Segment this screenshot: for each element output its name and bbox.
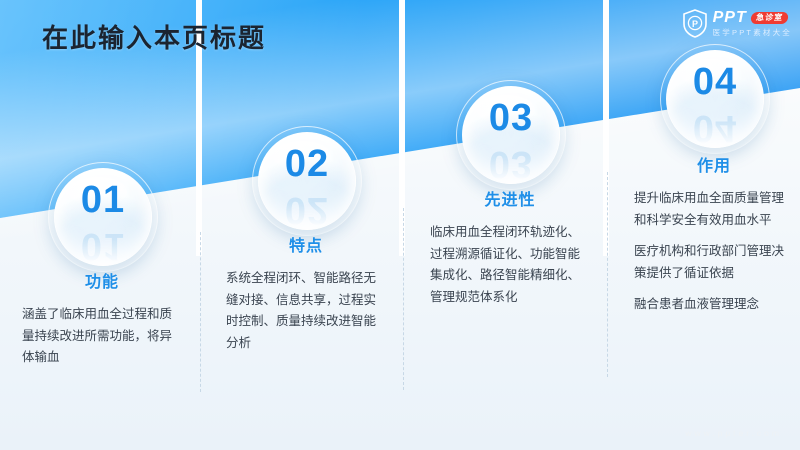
column-divider-1: [200, 232, 201, 392]
step-bubble-01[interactable]: 01 01: [48, 162, 158, 272]
logo-badge: 急诊室: [750, 12, 789, 24]
paragraph: 提升临床用血全面质量管理和科学安全有效用血水平: [634, 188, 794, 231]
step-number-reflection-03: 03: [463, 145, 559, 183]
column-heading-1: 功能: [22, 268, 182, 292]
step-number-01: 01: [55, 181, 151, 219]
logo-subtitle: 医学PPT素材大全: [713, 29, 792, 37]
logo-text-block: PPT 急诊室 医学PPT素材大全: [713, 10, 792, 37]
logo-brand-text: PPT: [713, 10, 747, 26]
column-body-2: 系统全程闭环、智能路径无缝对接、信息共享，过程实时控制、质量持续改进智能分析: [226, 268, 386, 354]
column-body-1: 涵盖了临床用血全过程和质量持续改进所需功能，将异体输血: [22, 304, 182, 369]
step-bubble-04[interactable]: 04 04: [660, 44, 770, 154]
band-separator-3: [603, 0, 609, 256]
column-heading-2: 特点: [226, 232, 386, 256]
band-separator-2: [399, 0, 405, 256]
paragraph: 临床用血全程闭环轨迹化、过程溯源循证化、功能智能集成化、路径智能精细化、管理规范…: [430, 222, 590, 308]
content-column-2: 特点 系统全程闭环、智能路径无缝对接、信息共享，过程实时控制、质量持续改进智能分…: [226, 232, 386, 354]
paragraph: 医疗机构和行政部门管理决策提供了循证依据: [634, 241, 794, 284]
paragraph: 系统全程闭环、智能路径无缝对接、信息共享，过程实时控制、质量持续改进智能分析: [226, 268, 386, 354]
brand-logo[interactable]: P PPT 急诊室 医学PPT素材大全: [682, 6, 792, 40]
step-number-04: 04: [667, 63, 763, 101]
column-divider-2: [403, 208, 404, 390]
page-title: 在此输入本页标题: [42, 18, 266, 55]
paragraph: 融合患者血液管理理念: [634, 294, 794, 316]
step-bubble-02[interactable]: 02 02: [252, 126, 362, 236]
step-bubble-03[interactable]: 03 03: [456, 80, 566, 190]
column-body-3: 临床用血全程闭环轨迹化、过程溯源循证化、功能智能集成化、路径智能精细化、管理规范…: [430, 222, 590, 308]
content-column-4: 作用 提升临床用血全面质量管理和科学安全有效用血水平医疗机构和行政部门管理决策提…: [634, 152, 794, 316]
column-divider-3: [607, 172, 608, 377]
paragraph: 涵盖了临床用血全过程和质量持续改进所需功能，将异体输血: [22, 304, 182, 369]
slide-canvas: 在此输入本页标题 P PPT 急诊室 医学PPT素材大全 01 01: [0, 0, 800, 450]
bubble-body: 04 04: [666, 50, 764, 148]
bubble-body: 01 01: [54, 168, 152, 266]
site-watermark: www.ppter.com: [685, 428, 782, 438]
svg-text:P: P: [692, 19, 698, 29]
logo-primary-row: PPT 急诊室: [713, 10, 792, 26]
step-number-reflection-04: 04: [667, 109, 763, 147]
column-heading-3: 先进性: [430, 186, 590, 210]
shield-icon: P: [682, 9, 708, 38]
content-column-1: 功能 涵盖了临床用血全过程和质量持续改进所需功能，将异体输血: [22, 268, 182, 369]
step-number-reflection-01: 01: [55, 227, 151, 265]
bubble-body: 03 03: [462, 86, 560, 184]
bubble-body: 02 02: [258, 132, 356, 230]
step-number-reflection-02: 02: [259, 191, 355, 229]
step-number-03: 03: [463, 99, 559, 137]
content-column-3: 先进性 临床用血全程闭环轨迹化、过程溯源循证化、功能智能集成化、路径智能精细化、…: [430, 186, 590, 308]
column-body-4: 提升临床用血全面质量管理和科学安全有效用血水平医疗机构和行政部门管理决策提供了循…: [634, 188, 794, 316]
column-heading-4: 作用: [634, 152, 794, 176]
step-number-02: 02: [259, 145, 355, 183]
